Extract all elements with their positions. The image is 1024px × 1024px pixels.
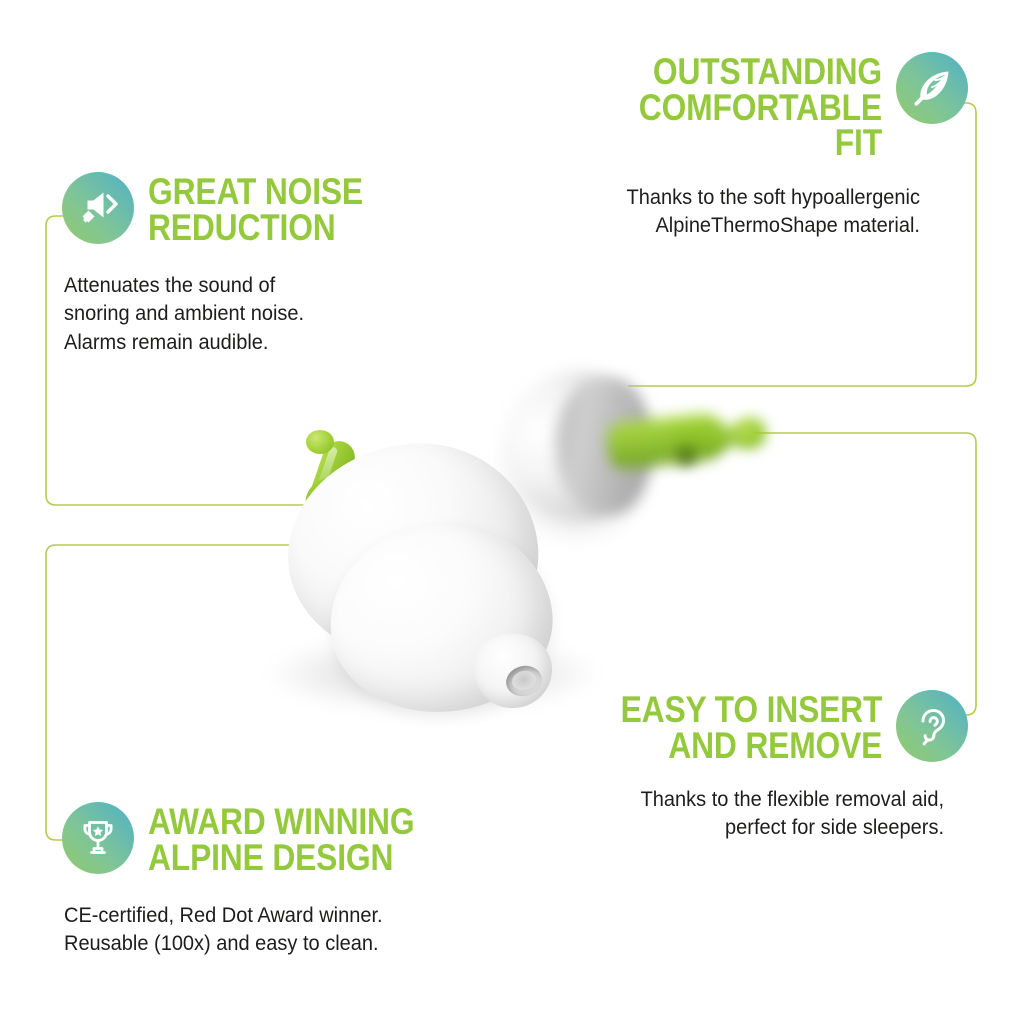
- feature-header: AWARD WINNING ALPINE DESIGN: [62, 802, 532, 875]
- feature-body: CE-certified, Red Dot Award winner. Reus…: [64, 901, 499, 958]
- trophy-icon: [62, 802, 134, 874]
- background-earplug-stem-hole: [677, 447, 696, 466]
- noise-reduction-icon: [62, 172, 134, 244]
- background-earplug-stem-tip: [735, 418, 765, 448]
- ear-icon: [896, 690, 968, 762]
- background-earplug-stem-rings: [610, 417, 676, 465]
- feature-title: AWARD WINNING ALPINE DESIGN: [148, 802, 414, 875]
- feature-header: EASY TO INSERT AND REMOVE: [556, 690, 968, 763]
- feature-body: Thanks to the soft hypoallergenic Alpine…: [581, 183, 920, 240]
- feature-header: GREAT NOISE REDUCTION: [62, 172, 462, 245]
- feature-outstanding-comfortable-fit: OUTSTANDING COMFORTABLE FIT Thanks to th…: [556, 52, 968, 239]
- feature-body: Thanks to the flexible removal aid, perf…: [583, 785, 944, 842]
- feature-title: OUTSTANDING COMFORTABLE FIT: [602, 52, 882, 161]
- feature-title: EASY TO INSERT AND REMOVE: [620, 690, 882, 763]
- infographic-canvas: GREAT NOISE REDUCTION Attenuates the sou…: [0, 0, 1024, 1024]
- feature-header: OUTSTANDING COMFORTABLE FIT: [556, 52, 968, 161]
- feather-icon: [896, 52, 968, 124]
- feature-body: Attenuates the sound of snoring and ambi…: [64, 271, 434, 356]
- feature-title: GREAT NOISE REDUCTION: [148, 172, 363, 245]
- feature-easy-to-insert-and-remove: EASY TO INSERT AND REMOVE Thanks to the …: [556, 690, 968, 842]
- feature-award-winning-alpine-design: AWARD WINNING ALPINE DESIGN CE-certified…: [62, 802, 532, 958]
- foreground-earplug-stem-tip: [306, 430, 334, 454]
- feature-great-noise-reduction: GREAT NOISE REDUCTION Attenuates the sou…: [62, 172, 462, 356]
